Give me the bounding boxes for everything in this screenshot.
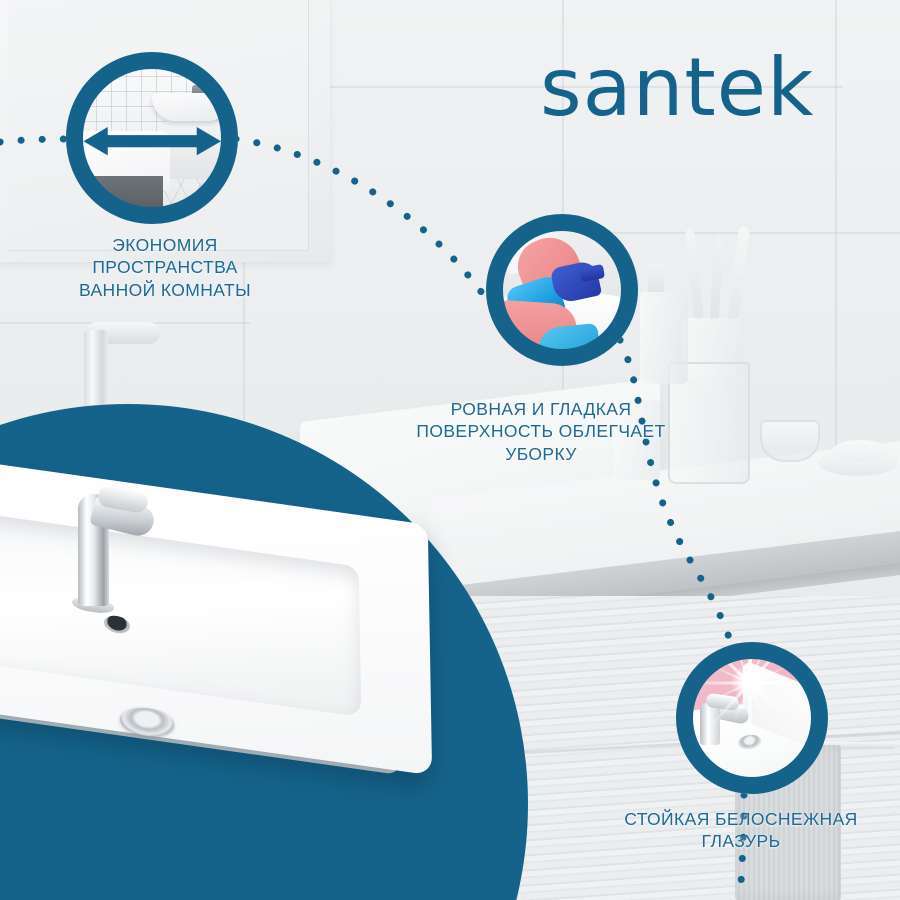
feature-caption-easy-cleaning: РОВНАЯ И ГЛАДКАЯ ПОВЕРХНОСТЬ ОБЛЕГЧАЕТ У… [396,398,686,465]
product-washbasin-photo [0,430,470,830]
feature-badge-ring [486,214,638,366]
feature-badge-ring [66,52,238,224]
promo-banner: santek ЭКОНОМИЯ ПРОСТРАНСТВА ВАННОЙ КОМН… [0,0,900,900]
feature-caption-durable-glaze: СТОЙКАЯ БЕЛОСНЕЖНАЯ ГЛАЗУРЬ [586,808,896,853]
feature-caption-space-saving: ЭКОНОМИЯ ПРОСТРАНСТВА ВАННОЙ КОМНАТЫ [30,234,300,301]
dotted-path-badge2-to-badge3 [620,340,730,640]
feature-badge-ring [676,642,828,794]
brand-logo: santek [540,48,814,128]
